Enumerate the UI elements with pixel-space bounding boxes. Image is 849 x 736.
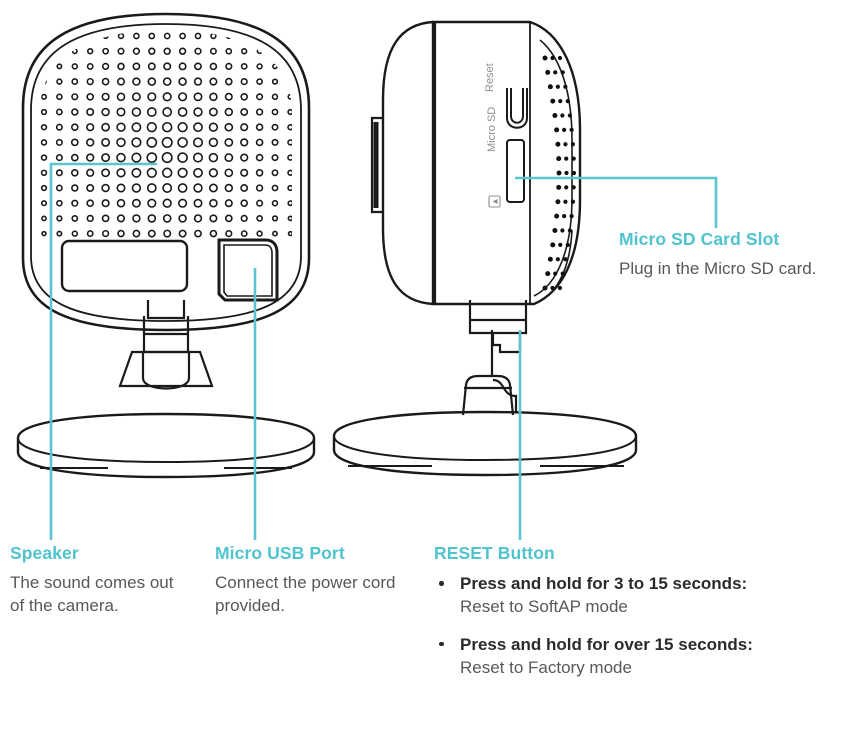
grille-hole <box>72 231 77 236</box>
grille-hole <box>273 94 278 99</box>
grille-hole <box>102 94 109 101</box>
reset-softap-condition: Press and hold for 3 to 15 seconds: <box>460 573 834 595</box>
side-view-camera: Reset Micro SD <box>334 22 636 475</box>
grille-hole <box>162 138 172 148</box>
grille-hole <box>117 200 124 207</box>
rear-body-shell <box>23 14 309 330</box>
grille-hole <box>117 123 125 131</box>
grille-hole <box>164 230 170 236</box>
grille-hole <box>210 93 217 100</box>
side-grille-hole <box>552 113 557 118</box>
side-grille-hole <box>563 85 567 89</box>
grille-hole <box>118 215 125 222</box>
rear-label-panel <box>62 241 187 291</box>
grille-hole <box>179 215 186 222</box>
grille-hole <box>163 199 171 207</box>
reset-pinhole <box>507 88 527 128</box>
callout-reset-button: RESET Button Press and hold for 3 to 15 … <box>434 544 834 681</box>
grille-hole <box>42 201 46 205</box>
grille-hole <box>178 168 187 177</box>
grille-hole <box>227 34 232 39</box>
grille-hole <box>179 78 186 85</box>
grille-hole <box>148 93 156 101</box>
grille-hole <box>241 124 248 131</box>
grille-hole <box>241 216 247 222</box>
grille-hole <box>226 49 231 54</box>
grille-hole <box>57 94 62 99</box>
grille-hole <box>241 170 248 177</box>
grille-hole <box>257 200 263 206</box>
grille-hole <box>147 123 156 132</box>
grille-hole <box>178 138 187 147</box>
grille-hole <box>272 155 277 160</box>
grille-hole <box>147 138 156 147</box>
side-grille-hole <box>553 272 557 276</box>
grille-hole <box>195 33 200 38</box>
grille-hole <box>72 79 77 84</box>
grille-hole <box>226 215 232 221</box>
grille-hole <box>87 124 94 131</box>
side-grille-hole <box>545 70 550 75</box>
grille-hole <box>194 200 201 207</box>
grille-hole <box>211 34 216 39</box>
grille-hole <box>57 201 62 206</box>
grille-hole <box>72 170 78 176</box>
grille-hole <box>178 153 187 162</box>
grille-hole <box>194 93 201 100</box>
list-item: Press and hold for over 15 seconds: Rese… <box>434 634 834 681</box>
side-grille-hole <box>558 286 562 290</box>
grille-hole <box>165 33 170 38</box>
side-grille-hole <box>543 286 548 291</box>
grille-hole <box>42 155 47 160</box>
grille-hole <box>288 80 292 84</box>
side-stand-hinge <box>456 376 516 415</box>
grille-hole <box>132 169 140 177</box>
grille-hole <box>87 169 94 176</box>
side-grille-hole <box>570 214 574 218</box>
grille-hole <box>241 185 247 191</box>
reset-factory-result: Reset to Factory mode <box>460 656 834 681</box>
side-grille-hole <box>545 271 550 276</box>
grille-hole <box>117 93 124 100</box>
grille-hole <box>88 49 93 54</box>
grille-hole <box>241 200 247 206</box>
grille-hole <box>117 184 124 191</box>
side-grille-hole <box>562 214 566 218</box>
grille-hole <box>102 154 109 161</box>
grille-hole <box>87 79 93 85</box>
grille-hole <box>194 108 202 116</box>
grille-hole <box>72 94 78 100</box>
side-grille-hole <box>563 200 567 204</box>
grille-hole <box>194 169 202 177</box>
illustration-page: Reset Micro SD Micro SD Card Slot Plug i… <box>0 0 849 736</box>
grille-hole <box>57 109 62 114</box>
grille-hole <box>194 153 202 161</box>
sd-card-triangle-icon <box>489 196 500 207</box>
grille-hole <box>225 169 232 176</box>
grille-hole <box>42 80 46 84</box>
grille-hole <box>72 124 78 130</box>
grille-hole <box>149 63 155 69</box>
reset-factory-condition: Press and hold for over 15 seconds: <box>460 634 834 656</box>
grille-hole <box>288 155 293 160</box>
grille-hole <box>163 108 171 116</box>
grille-hole <box>178 123 187 132</box>
side-grille-hole <box>563 142 567 146</box>
grille-hole <box>210 123 218 131</box>
grille-hole <box>242 231 247 236</box>
grille-hole <box>118 78 125 85</box>
grille-hole <box>102 139 109 146</box>
grille-hole <box>73 34 77 38</box>
grille-hole <box>241 139 248 146</box>
grille-hole <box>288 201 292 205</box>
grille-hole <box>103 34 108 39</box>
bullet-dot-icon <box>439 642 444 647</box>
grille-hole <box>257 64 262 69</box>
side-grille-hole <box>548 257 553 262</box>
reset-label-text: Reset <box>484 63 496 92</box>
grille-hole <box>257 79 262 84</box>
grille-hole <box>133 215 140 222</box>
grille-hole <box>194 138 202 146</box>
grille-hole <box>72 200 78 206</box>
grille-hole <box>210 63 216 69</box>
grille-hole <box>211 48 216 53</box>
grille-hole <box>164 48 170 54</box>
grille-hole <box>179 108 187 116</box>
grille-hole <box>195 48 201 54</box>
grille-hole <box>42 110 47 115</box>
side-grille-hole <box>556 156 561 161</box>
grille-hole <box>257 231 262 236</box>
side-grille-hole <box>564 157 568 161</box>
grille-hole <box>149 230 155 236</box>
grille-hole <box>210 78 216 84</box>
grille-hole <box>57 64 61 68</box>
side-grille-hole <box>562 128 566 132</box>
grille-hole <box>163 184 171 192</box>
rear-stand-hinge <box>120 352 212 389</box>
side-grille-hole <box>550 242 555 247</box>
side-grille-hole <box>556 185 561 190</box>
grille-hole <box>288 95 292 99</box>
grille-hole <box>42 125 47 130</box>
side-grille-hole <box>556 257 560 261</box>
bullet-dot-icon <box>439 581 444 586</box>
side-grille-hole <box>557 171 562 176</box>
grille-hole <box>273 201 278 206</box>
grille-hole <box>87 216 93 222</box>
grille-hole <box>226 231 232 237</box>
grille-hole <box>289 232 293 236</box>
micro-sd-label-text: Micro SD <box>486 107 498 152</box>
grille-hole <box>102 185 109 192</box>
grille-hole <box>162 153 172 163</box>
grille-hole <box>288 110 293 115</box>
grille-hole <box>87 94 93 100</box>
grille-hole <box>57 79 62 84</box>
grille-hole <box>210 231 216 237</box>
grille-hole <box>57 185 62 190</box>
side-grille-dots <box>543 56 577 291</box>
side-grille-hole <box>564 185 568 189</box>
grille-hole <box>242 49 247 54</box>
grille-hole <box>134 48 140 54</box>
grille-hole <box>102 169 109 176</box>
grille-hole <box>179 63 185 69</box>
grille-hole <box>102 200 109 207</box>
grille-hole <box>288 140 293 145</box>
grille-hole <box>194 184 202 192</box>
grille-hole <box>194 123 202 131</box>
grille-hole <box>88 64 93 69</box>
side-grille-hole <box>571 142 575 146</box>
grille-hole <box>133 93 140 100</box>
grille-hole <box>195 63 201 69</box>
side-stand-neck <box>470 300 526 376</box>
side-grille-hole <box>572 171 576 175</box>
grille-hole <box>42 186 47 191</box>
grille-hole <box>273 231 277 235</box>
grille-hole <box>180 48 186 54</box>
grille-hole <box>148 199 156 207</box>
grille-hole <box>226 64 232 70</box>
grille-hole <box>195 78 202 85</box>
grille-hole <box>179 184 187 192</box>
callout-body-micro-sd: Plug in the Micro SD card. <box>619 258 824 280</box>
grille-hole <box>226 200 233 207</box>
grille-hole <box>209 154 217 162</box>
grille-hole <box>257 139 263 145</box>
grille-hole <box>210 184 217 191</box>
side-grille-hole <box>560 113 564 117</box>
grille-hole <box>272 185 277 190</box>
micro-usb-port-cover <box>219 240 277 300</box>
grille-hole <box>42 95 46 99</box>
side-grille-hole <box>560 228 564 232</box>
grille-hole <box>102 109 109 116</box>
grille-hole <box>226 79 232 85</box>
grille-hole <box>103 231 109 237</box>
grille-hole <box>118 231 124 237</box>
grille-hole <box>88 231 93 236</box>
side-grille-hole <box>558 243 562 247</box>
grille-hole <box>210 108 217 115</box>
grille-hole <box>225 139 232 146</box>
grille-hole <box>103 215 109 221</box>
grille-hole <box>225 109 232 116</box>
side-grille-hole <box>566 243 570 247</box>
callout-speaker: Speaker The sound comes out of the camer… <box>10 544 205 617</box>
speaker-grille-dots <box>42 33 293 236</box>
side-grille-hole <box>558 99 562 103</box>
grille-hole <box>42 232 46 236</box>
grille-hole <box>57 231 61 235</box>
grille-hole <box>117 138 125 146</box>
grille-hole <box>257 49 261 53</box>
grille-hole <box>147 168 156 177</box>
grille-hole <box>148 108 156 116</box>
grille-hole <box>133 63 139 69</box>
callout-title-speaker: Speaker <box>10 544 205 563</box>
reset-softap-result: Reset to SoftAP mode <box>460 595 834 620</box>
grille-hole <box>288 186 293 191</box>
grille-hole <box>289 34 293 38</box>
callout-title-micro-usb: Micro USB Port <box>215 544 425 563</box>
grille-hole <box>103 49 108 54</box>
side-grille-hole <box>570 128 574 132</box>
grille-hole <box>164 78 171 85</box>
grille-hole <box>132 138 141 147</box>
grille-hole <box>179 230 185 236</box>
grille-hole <box>148 78 155 85</box>
grille-hole <box>288 170 293 175</box>
side-grille-hole <box>566 99 570 103</box>
grille-hole <box>87 154 94 161</box>
side-grille-hole <box>571 200 575 204</box>
grille-hole <box>195 230 201 236</box>
grille-hole <box>258 34 262 38</box>
grille-hole <box>42 34 46 38</box>
grille-hole <box>42 216 46 220</box>
leader-micro-sd <box>515 178 716 228</box>
grille-hole <box>42 140 47 145</box>
side-stand-base <box>334 412 636 475</box>
grille-hole <box>72 109 78 115</box>
reset-instruction-list: Press and hold for 3 to 15 seconds: Rese… <box>434 573 834 680</box>
grille-hole <box>163 93 171 101</box>
grille-hole <box>57 170 62 175</box>
side-grille-hole <box>568 113 572 117</box>
side-grille-hole <box>550 99 555 104</box>
grille-hole <box>257 94 263 100</box>
grille-hole <box>257 155 263 161</box>
grille-hole <box>57 140 63 146</box>
side-grille-hole <box>548 84 553 89</box>
grille-hole <box>149 48 155 54</box>
side-grille-hole <box>561 272 565 276</box>
grille-hole <box>148 184 156 192</box>
grille-hole <box>257 109 263 115</box>
grille-hole <box>164 215 171 222</box>
list-item: Press and hold for 3 to 15 seconds: Rese… <box>434 573 834 620</box>
callout-title-reset: RESET Button <box>434 544 834 563</box>
side-grille-hole <box>550 56 554 60</box>
grille-hole <box>272 125 277 130</box>
side-grille-hole <box>550 286 554 290</box>
side-grille-hole <box>568 228 572 232</box>
rear-view-camera <box>18 14 314 477</box>
grille-hole <box>148 215 155 222</box>
grille-hole <box>272 170 277 175</box>
grille-hole <box>117 169 125 177</box>
grille-hole <box>273 64 277 68</box>
grille-hole <box>163 123 172 132</box>
grille-hole <box>257 216 262 221</box>
side-grille-hole <box>564 171 568 175</box>
grille-hole <box>226 94 233 101</box>
grille-hole <box>57 124 62 129</box>
side-grille-hole <box>561 70 565 74</box>
grille-hole <box>257 124 263 130</box>
grille-hole <box>179 199 187 207</box>
side-grille-hole <box>556 85 560 89</box>
grille-hole <box>72 185 78 191</box>
grille-hole <box>273 79 278 84</box>
grille-hole <box>241 79 247 85</box>
grille-hole <box>272 109 277 114</box>
grille-hole <box>210 169 218 177</box>
grille-hole <box>73 49 77 53</box>
grille-hole <box>132 184 140 192</box>
grille-hole <box>210 215 216 221</box>
grille-hole <box>180 33 185 38</box>
grille-hole <box>118 63 124 69</box>
grille-hole <box>272 140 277 145</box>
rear-stand-base <box>18 414 314 477</box>
grille-hole <box>119 34 124 39</box>
grille-hole <box>72 64 77 69</box>
grille-hole <box>134 33 139 38</box>
grille-hole <box>72 155 78 161</box>
grille-hole <box>179 93 187 101</box>
grille-hole <box>241 94 247 100</box>
grille-hole <box>87 109 93 115</box>
grille-hole <box>57 155 63 161</box>
grille-hole <box>288 125 293 130</box>
grille-hole <box>87 139 94 146</box>
grille-hole <box>210 200 217 207</box>
grille-hole <box>57 216 62 221</box>
grille-hole <box>72 139 78 145</box>
grille-hole <box>117 108 124 115</box>
grille-hole <box>164 63 170 69</box>
side-grille-hole <box>553 70 557 74</box>
grille-hole <box>132 153 141 162</box>
grille-hole <box>133 200 140 207</box>
grille-hole <box>195 215 202 222</box>
side-grille-hole <box>572 185 576 189</box>
grille-hole <box>163 168 172 177</box>
side-grille-hole <box>555 142 560 147</box>
callout-micro-usb-port: Micro USB Port Connect the power cord pr… <box>215 544 425 617</box>
side-grille-hole <box>554 127 559 132</box>
grille-hole <box>147 153 156 162</box>
side-grille-hole <box>543 56 548 61</box>
grille-hole <box>242 64 247 69</box>
grille-hole <box>103 64 109 70</box>
grille-hole <box>209 138 217 146</box>
callout-micro-sd-card-slot: Micro SD Card Slot Plug in the Micro SD … <box>619 230 845 281</box>
grille-hole <box>273 216 278 221</box>
grille-hole <box>133 230 139 236</box>
grille-hole <box>103 79 109 85</box>
side-grille-hole <box>554 214 559 219</box>
side-grille-hole <box>563 257 567 261</box>
callout-body-speaker: The sound comes out of the camera. <box>10 572 190 617</box>
grille-hole <box>87 200 93 206</box>
side-grille-hole <box>558 56 562 60</box>
grille-hole <box>149 33 154 38</box>
rear-stand-neck <box>143 300 189 352</box>
grille-hole <box>288 216 292 220</box>
grille-hole <box>241 109 247 115</box>
grille-hole <box>225 124 232 131</box>
grille-hole <box>42 170 47 175</box>
